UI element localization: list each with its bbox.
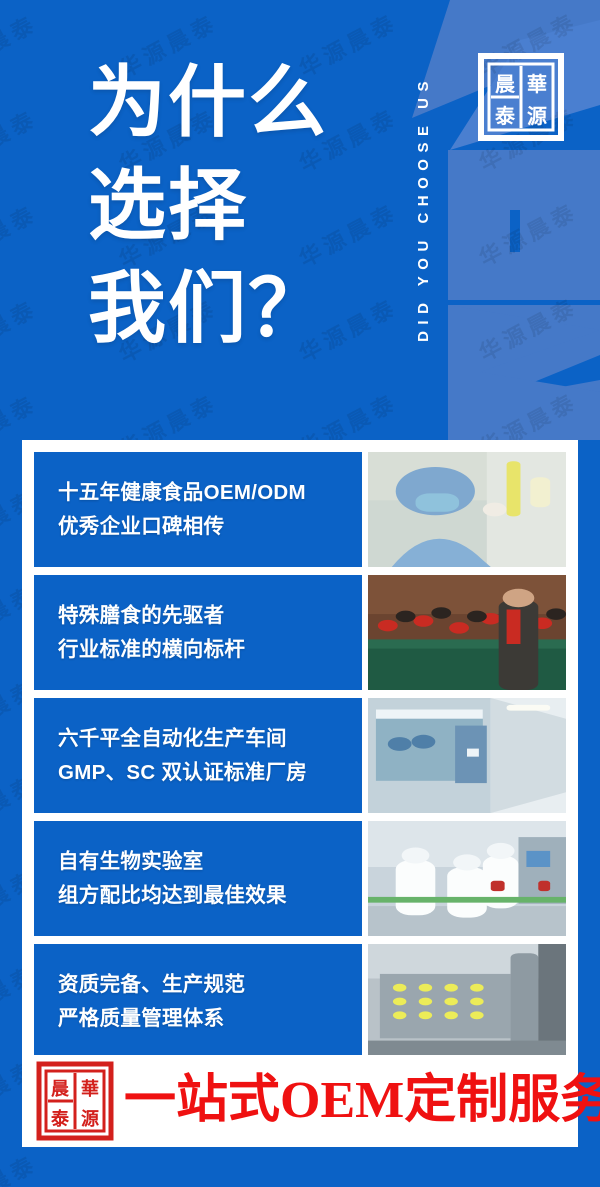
feature-row: 十五年健康食品OEM/ODM优秀企业口碑相传	[34, 452, 566, 567]
feature-photo-2	[368, 575, 566, 690]
feature-row: 特殊膳食的先驱者行业标准的横向标杆	[34, 575, 566, 690]
company-seal-red-icon: 晨 華 泰 源	[36, 1061, 114, 1141]
feature-text-line: 自有生物实验室	[58, 845, 362, 878]
watermark-tile: 华源晨泰	[0, 1146, 43, 1187]
feature-text-line: 六千平全自动化生产车间	[58, 722, 362, 755]
svg-text:晨: 晨	[51, 1079, 70, 1100]
feature-text-line: 十五年健康食品OEM/ODM	[58, 476, 362, 509]
feature-text-line: 特殊膳食的先驱者	[58, 599, 362, 632]
feature-photo-3	[368, 698, 566, 813]
title-line-2: 选择	[88, 155, 388, 258]
feature-text-line: 严格质量管理体系	[58, 1002, 362, 1035]
feature-card-4: 自有生物实验室组方配比均达到最佳效果	[34, 821, 362, 936]
features-panel: 十五年健康食品OEM/ODM优秀企业口碑相传 特殊膳食的先驱者行业标准的横向标杆	[22, 440, 578, 1147]
svg-text:泰: 泰	[494, 104, 516, 128]
feature-card-5: 资质完备、生产规范严格质量管理体系	[34, 944, 362, 1059]
feature-text-line: 组方配比均达到最佳效果	[58, 879, 362, 912]
svg-text:華: 華	[81, 1078, 99, 1100]
feature-text-line: 行业标准的横向标杆	[58, 633, 362, 666]
poster-root: 华源晨泰华源晨泰华源晨泰华源晨泰华源晨泰华源晨泰华源晨泰华源晨泰华源晨泰华源晨泰…	[0, 0, 600, 1187]
feature-card-3: 六千平全自动化生产车间GMP、SC 双认证标准厂房	[34, 698, 362, 813]
features-list: 十五年健康食品OEM/ODM优秀企业口碑相传 特殊膳食的先驱者行业标准的横向标杆	[34, 452, 566, 1059]
feature-photo-5	[368, 944, 566, 1059]
feature-photo-1	[368, 452, 566, 567]
feature-row: 六千平全自动化生产车间GMP、SC 双认证标准厂房	[34, 698, 566, 813]
feature-card-1: 十五年健康食品OEM/ODM优秀企业口碑相传	[34, 452, 362, 567]
bottom-banner: 晨 華 泰 源 一站式OEM定制服务	[22, 1055, 578, 1147]
hero-section: 为什么 选择 我们？ DID YOU CHOOSE US 晨 華 泰 源	[0, 0, 600, 438]
svg-text:晨: 晨	[495, 72, 516, 96]
feature-row: 自有生物实验室组方配比均达到最佳效果	[34, 821, 566, 936]
page-title: 为什么 选择 我们？	[88, 52, 388, 361]
svg-text:源: 源	[527, 104, 547, 128]
feature-card-2: 特殊膳食的先驱者行业标准的横向标杆	[34, 575, 362, 690]
company-seal-icon: 晨 華 泰 源	[478, 52, 564, 142]
feature-text-line: 优秀企业口碑相传	[58, 510, 362, 543]
vertical-strapline: DID YOU CHOOSE US	[406, 8, 440, 408]
vertical-strapline-text: DID YOU CHOOSE US	[415, 75, 432, 342]
feature-row: 资质完备、生产规范严格质量管理体系	[34, 944, 566, 1059]
svg-text:源: 源	[81, 1108, 99, 1130]
title-line-3: 我们？	[88, 258, 388, 361]
banner-headline: 一站式OEM定制服务	[124, 1075, 600, 1127]
feature-photo-4	[368, 821, 566, 936]
title-line-1: 为什么	[88, 52, 388, 155]
svg-text:泰: 泰	[50, 1108, 70, 1130]
feature-text-line: 资质完备、生产规范	[58, 968, 362, 1001]
feature-text-line: GMP、SC 双认证标准厂房	[58, 756, 362, 789]
svg-text:華: 華	[527, 72, 547, 96]
